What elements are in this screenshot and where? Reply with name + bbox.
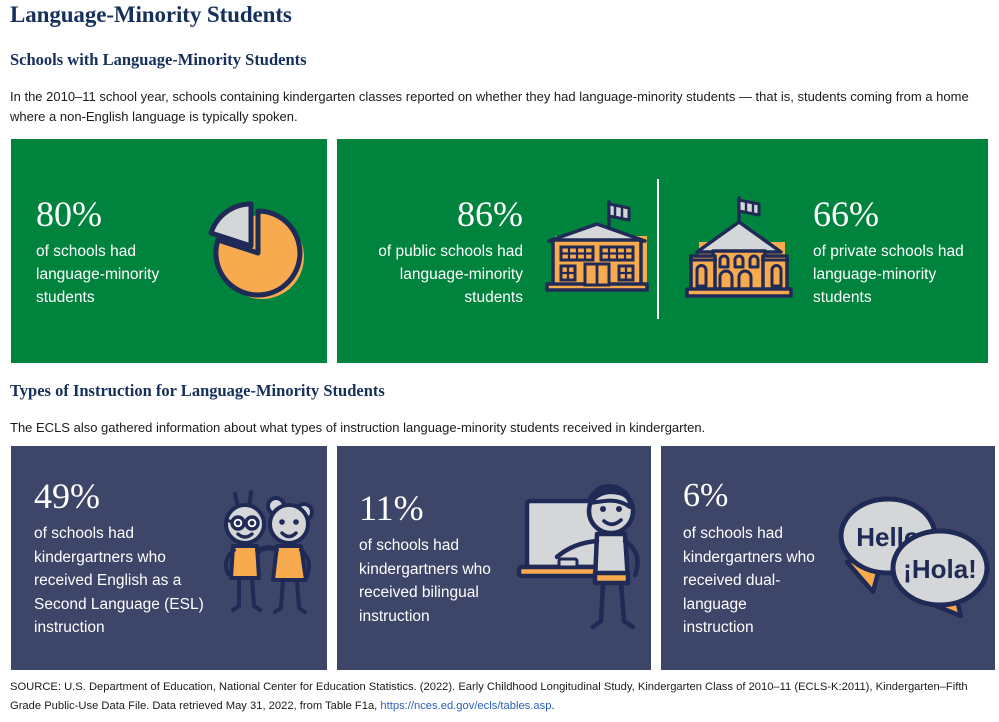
panel-divider xyxy=(657,179,659,319)
stat-text-block: 49% of schools had kindergartners who re… xyxy=(34,476,207,640)
infographic-page: Language-Minority Students Schools with … xyxy=(0,0,999,722)
stat-description: of public schools had language-minority … xyxy=(353,240,523,309)
speech-bubbles-icon: Hello ¡Hola! xyxy=(825,488,995,628)
speech-bubble-spanish-text: ¡Hola! xyxy=(903,554,977,584)
section-heading-schools: Schools with Language-Minority Students xyxy=(10,50,307,70)
page-title: Language-Minority Students xyxy=(10,2,292,28)
stat-percent: 66% xyxy=(813,194,988,234)
stat-description: of schools had language-minority student… xyxy=(36,240,196,309)
stat-description: of schools had kindergartners who receiv… xyxy=(359,534,511,628)
stat-percent: 6% xyxy=(683,476,819,516)
stat-panel-bilingual-11: 11% of schools had kindergartners who re… xyxy=(337,446,651,670)
split-container: 86% of public schools had language-minor… xyxy=(337,139,988,363)
stat-text-block: 66% of private schools had language-mino… xyxy=(813,194,988,309)
teacher-whiteboard-icon xyxy=(511,471,651,646)
stat-panel-pie-80: 80% of schools had language-minority stu… xyxy=(11,139,327,363)
stat-text-block: 86% of public schools had language-minor… xyxy=(353,194,523,309)
stat-percent: 86% xyxy=(353,194,523,234)
stat-description: of schools had kindergartners who receiv… xyxy=(683,522,819,640)
private-school-building-icon xyxy=(679,194,799,309)
source-link[interactable]: https://nces.ed.gov/ecls/tables.asp xyxy=(380,700,551,712)
section-intro-instruction: The ECLS also gathered information about… xyxy=(10,418,988,438)
pie-chart-icon xyxy=(196,191,316,311)
source-note: SOURCE: U.S. Department of Education, Na… xyxy=(10,678,992,716)
stat-description: of private schools had language-minority… xyxy=(813,240,988,309)
stat-panel-public-86: 86% of public schools had language-minor… xyxy=(337,139,657,363)
section-heading-instruction: Types of Instruction for Language-Minori… xyxy=(10,381,385,401)
green-panel-row: 80% of schools had language-minority stu… xyxy=(11,139,988,363)
stat-description: of schools had kindergartners who receiv… xyxy=(34,522,207,640)
stat-text-block: 11% of schools had kindergartners who re… xyxy=(359,488,511,628)
stat-panel-private-66: 66% of private schools had language-mino… xyxy=(657,139,988,363)
source-text-end: . xyxy=(551,700,554,712)
stat-panel-public-private-group: 86% of public schools had language-minor… xyxy=(337,139,988,363)
stat-percent: 80% xyxy=(36,194,196,234)
stat-text-block: 6% of schools had kindergartners who rec… xyxy=(683,476,819,640)
two-children-icon xyxy=(207,478,327,638)
stat-text-block: 80% of schools had language-minority stu… xyxy=(36,194,196,309)
stat-percent: 11% xyxy=(359,488,511,528)
stat-panel-esl-49: 49% of schools had kindergartners who re… xyxy=(11,446,327,670)
section-intro-schools: In the 2010–11 school year, schools cont… xyxy=(10,87,988,127)
public-school-building-icon xyxy=(537,196,657,306)
stat-percent: 49% xyxy=(34,476,207,516)
navy-panel-row: 49% of schools had kindergartners who re… xyxy=(11,446,995,670)
stat-panel-dual-language-6: 6% of schools had kindergartners who rec… xyxy=(661,446,995,670)
